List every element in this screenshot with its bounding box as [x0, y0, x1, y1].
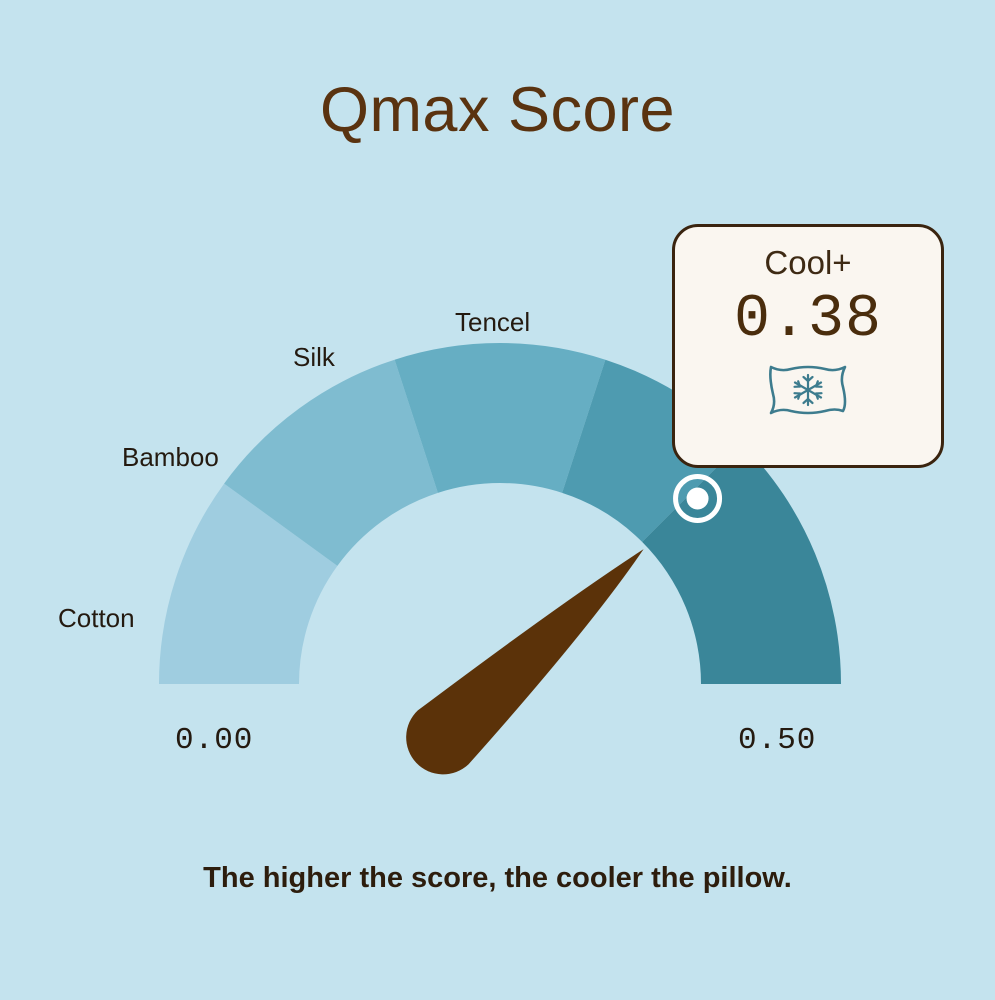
gauge-infographic: Qmax Score Cotton Bamboo Silk Tencel 0.0… — [0, 0, 995, 1000]
segment-label-cotton: Cotton — [58, 603, 135, 633]
gauge-needle — [406, 549, 643, 774]
segment-label-bamboo: Bamboo — [122, 442, 219, 472]
segment-label-tencel: Tencel — [455, 307, 530, 337]
callout-category-label: Cool+ — [764, 245, 851, 281]
chart-caption: The higher the score, the cooler the pil… — [0, 862, 995, 895]
axis-label-min: 0.00 — [175, 723, 253, 758]
pillow-snowflake-icon — [765, 361, 851, 424]
axis-label-max: 0.50 — [738, 723, 816, 758]
qmax-gauge-chart: Cotton Bamboo Silk Tencel 0.00 0.50 — [0, 0, 995, 1000]
score-callout-card[interactable]: Cool+ 0.38 — [672, 224, 944, 468]
segment-label-silk: Silk — [293, 342, 336, 372]
callout-score-value: 0.38 — [734, 287, 882, 353]
